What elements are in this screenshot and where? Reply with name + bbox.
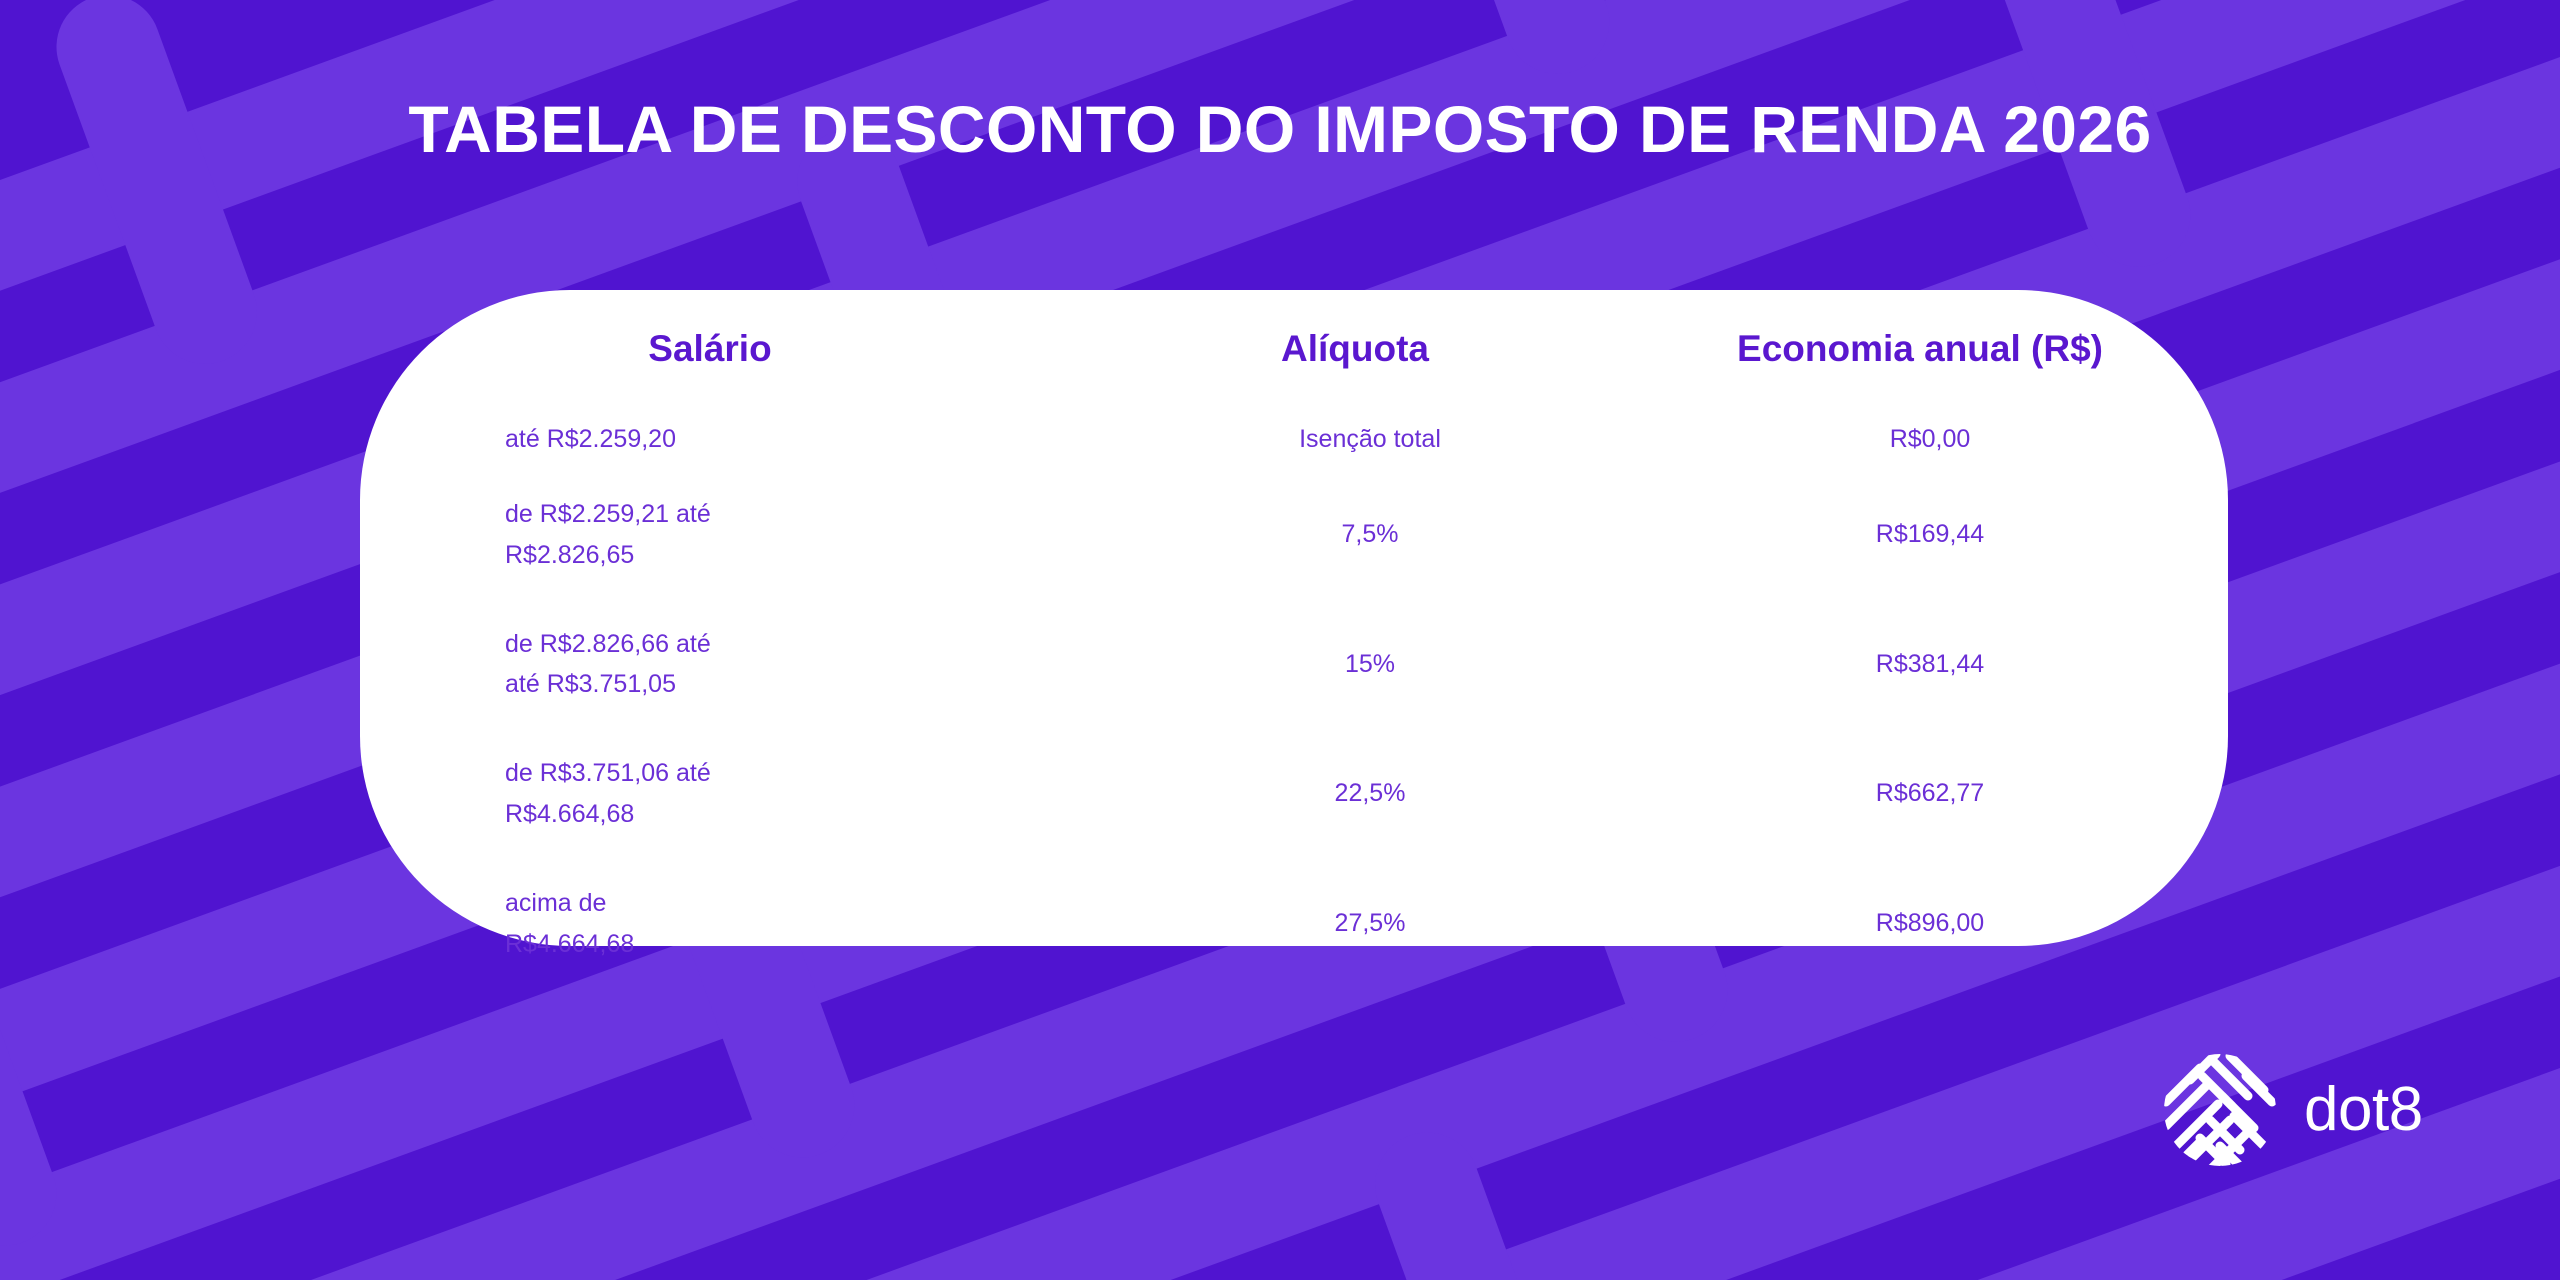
cell-salario: de R$3.751,06 até R$4.664,68	[505, 757, 1105, 831]
logo-wordmark: dot8	[2304, 1079, 2423, 1141]
salario-line: R$4.664,68	[505, 928, 1105, 962]
table-row: acima de R$4.664,68 27,5% R$896,00	[505, 859, 2225, 989]
cell-aliquota: 27,5%	[1105, 907, 1635, 941]
salario-line: de R$2.826,66 até	[505, 628, 1105, 662]
salario-line: até R$3.751,05	[505, 668, 1105, 702]
salario-line: de R$3.751,06 até	[505, 757, 1105, 791]
salario-line: acima de	[505, 887, 1105, 921]
cell-salario: até R$2.259,20	[505, 423, 1105, 457]
cell-salario: acima de R$4.664,68	[505, 887, 1105, 961]
salario-line: R$4.664,68	[505, 798, 1105, 832]
cell-economia: R$896,00	[1635, 907, 2225, 941]
brand-logo: dot8	[2160, 1050, 2423, 1170]
column-header-aliquota: Alíquota	[1105, 330, 1635, 367]
salario-line: R$2.826,65	[505, 539, 1105, 573]
cell-economia: R$662,77	[1635, 777, 2225, 811]
column-header-economia: Economia anual (R$)	[1635, 330, 2225, 367]
salario-line: de R$2.259,21 até	[505, 498, 1105, 532]
cell-salario: de R$2.259,21 até R$2.826,65	[505, 498, 1105, 572]
cell-aliquota: 7,5%	[1105, 518, 1635, 552]
cell-aliquota: 15%	[1105, 648, 1635, 682]
table-row: de R$3.751,06 até R$4.664,68 22,5% R$662…	[505, 729, 2225, 859]
table-row: de R$2.826,66 até até R$3.751,05 15% R$3…	[505, 600, 2225, 729]
salario-line: até R$2.259,20	[505, 423, 1105, 457]
cell-economia: R$381,44	[1635, 648, 2225, 682]
cell-economia: R$169,44	[1635, 518, 2225, 552]
dot8-logo-icon	[2160, 1050, 2280, 1170]
cell-salario: de R$2.826,66 até até R$3.751,05	[505, 628, 1105, 702]
table-header-row: Salário Alíquota Economia anual (R$)	[505, 330, 2225, 400]
cell-aliquota: 22,5%	[1105, 777, 1635, 811]
column-header-salario: Salário	[505, 330, 1105, 367]
cell-economia: R$0,00	[1635, 423, 2225, 457]
table-row: até R$2.259,20 Isenção total R$0,00	[505, 400, 2225, 470]
table-row: de R$2.259,21 até R$2.826,65 7,5% R$169,…	[505, 470, 2225, 600]
tax-bracket-table: Salário Alíquota Economia anual (R$) até…	[505, 330, 2225, 989]
page-title: TABELA DE DESCONTO DO IMPOSTO DE RENDA 2…	[0, 95, 2560, 164]
cell-aliquota: Isenção total	[1105, 423, 1635, 457]
banner-canvas: TABELA DE DESCONTO DO IMPOSTO DE RENDA 2…	[0, 0, 2560, 1280]
